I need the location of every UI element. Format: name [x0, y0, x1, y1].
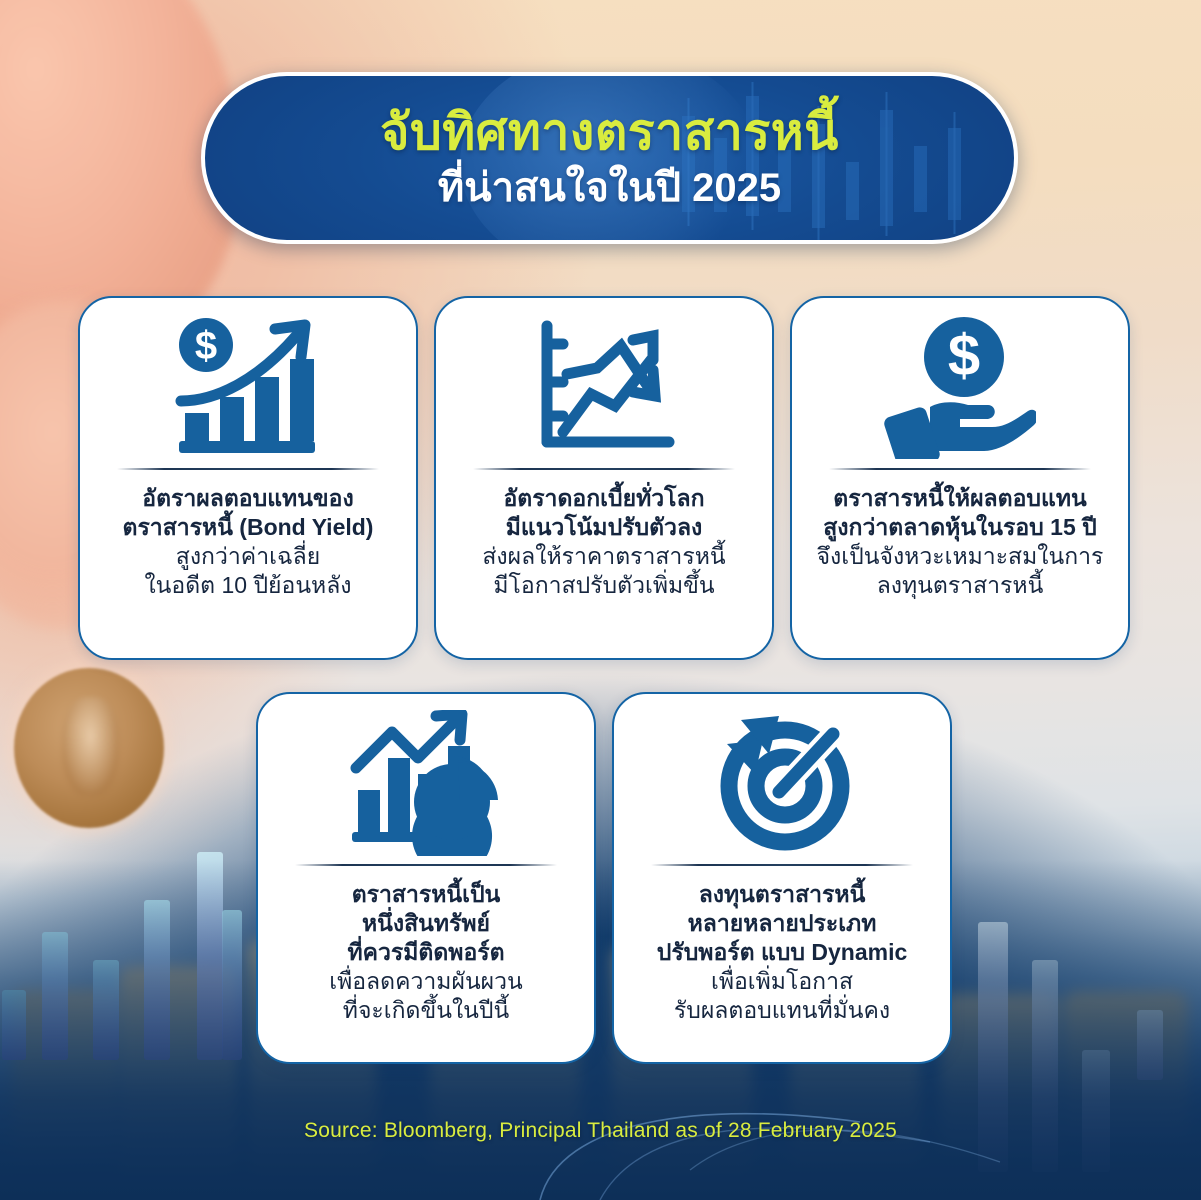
icon-container: $	[80, 298, 416, 468]
card-line: เพื่อลดความผันผวน	[268, 967, 584, 996]
info-card-bond-vs-equity[interactable]: $ ตราสารหนี้ให้ผลตอบแทน สูงกว่าตลาดหุ้นใ…	[790, 296, 1130, 660]
svg-text:$: $	[948, 323, 980, 388]
banner-title-line2: ที่น่าสนใจในปี 2025	[438, 164, 781, 212]
hand-holding-dollar-coin-icon: $	[884, 315, 1036, 459]
card-line: ตราสารหนี้ให้ผลตอบแทน	[802, 484, 1118, 513]
card-line: อัตราผลตอบแทนของ	[90, 484, 406, 513]
info-card-dynamic-allocation[interactable]: ลงทุนตราสารหนี้ หลายหลายประเภท ปรับพอร์ต…	[612, 692, 952, 1064]
source-footer: Source: Bloomberg, Principal Thailand as…	[0, 1119, 1201, 1143]
card-text-block: อัตราผลตอบแทนของ ตราสารหนี้ (Bond Yield)…	[80, 470, 416, 658]
decorative-arcs	[0, 870, 1201, 1200]
title-banner: จับทิศทางตราสารหนี้ ที่น่าสนใจในปี 2025	[201, 72, 1018, 244]
card-line: มีแนวโน้มปรับตัวลง	[446, 513, 762, 542]
info-card-global-rates[interactable]: อัตราดอกเบี้ยทั่วโลก มีแนวโน้มปรับตัวลง …	[434, 296, 774, 660]
card-text-block: ตราสารหนี้ให้ผลตอบแทน สูงกว่าตลาดหุ้นในร…	[792, 470, 1128, 658]
info-card-portfolio-asset[interactable]: ตราสารหนี้เป็น หนึ่งสินทรัพย์ ที่ควรมีติ…	[256, 692, 596, 1064]
card-line: ลงทุนตราสารหนี้	[802, 571, 1118, 600]
icon-container	[614, 694, 950, 864]
card-line: หลายหลายประเภท	[624, 909, 940, 938]
svg-text:$: $	[195, 324, 217, 368]
icon-container: $	[792, 298, 1128, 468]
info-card-bond-yield[interactable]: $ อัตราผลตอบแทนของ ตราสารหนี้ (Bond Yiel…	[78, 296, 418, 660]
candlestick-graphic	[662, 76, 992, 244]
infographic-page: จับทิศทางตราสารหนี้ ที่น่าสนใจในปี 2025 …	[0, 0, 1201, 1200]
card-line: อัตราดอกเบี้ยทั่วโลก	[446, 484, 762, 513]
card-line: ตราสารหนี้เป็น	[268, 880, 584, 909]
line-chart-updown-arrows-icon	[529, 316, 679, 458]
card-line: ที่จะเกิดขึ้นในปีนี้	[268, 996, 584, 1025]
card-line: หนึ่งสินทรัพย์	[268, 909, 584, 938]
card-line: เพื่อเพิ่มโอกาส	[624, 967, 940, 996]
card-line: สูงกว่าค่าเฉลี่ย	[90, 542, 406, 571]
icon-container	[258, 694, 594, 864]
card-line: ลงทุนตราสารหนี้	[624, 880, 940, 909]
card-text-block: อัตราดอกเบี้ยทั่วโลก มีแนวโน้มปรับตัวลง …	[436, 470, 772, 658]
bar-chart-pie-chart-icon	[348, 710, 504, 856]
card-line: ในอดีต 10 ปีย้อนหลัง	[90, 571, 406, 600]
target-dart-icon	[707, 710, 857, 856]
banner-title-line1: จับทิศทางตราสารหนี้	[380, 104, 839, 160]
bronze-coin-photo	[14, 668, 164, 828]
card-line: ปรับพอร์ต แบบ Dynamic	[624, 938, 940, 967]
card-line: ส่งผลให้ราคาตราสารหนี้	[446, 542, 762, 571]
card-text-block: ลงทุนตราสารหนี้ หลายหลายประเภท ปรับพอร์ต…	[614, 866, 950, 1062]
bar-chart-growth-dollar-icon: $	[173, 313, 323, 461]
card-line: ตราสารหนี้ (Bond Yield)	[90, 513, 406, 542]
card-line: จึงเป็นจังหวะเหมาะสมในการ	[802, 542, 1118, 571]
card-line: สูงกว่าตลาดหุ้นในรอบ 15 ปี	[802, 513, 1118, 542]
card-line: ที่ควรมีติดพอร์ต	[268, 938, 584, 967]
icon-container	[436, 298, 772, 468]
card-line: รับผลตอบแทนที่มั่นคง	[624, 996, 940, 1025]
card-line: มีโอกาสปรับตัวเพิ่มขึ้น	[446, 571, 762, 600]
card-text-block: ตราสารหนี้เป็น หนึ่งสินทรัพย์ ที่ควรมีติ…	[258, 866, 594, 1062]
